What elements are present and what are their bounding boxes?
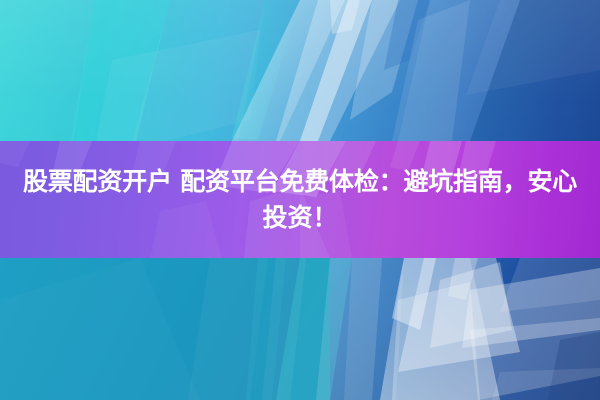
headline-text-container: 股票配资开户 配资平台免费体检：避坑指南，安心 投资！ <box>0 141 600 258</box>
promo-banner: 股票配资开户 配资平台免费体检：避坑指南，安心 投资！ <box>0 0 600 400</box>
headline-line-2: 投资！ <box>262 200 337 236</box>
headline-line-1: 股票配资开户 配资平台免费体检：避坑指南，安心 <box>23 164 577 200</box>
